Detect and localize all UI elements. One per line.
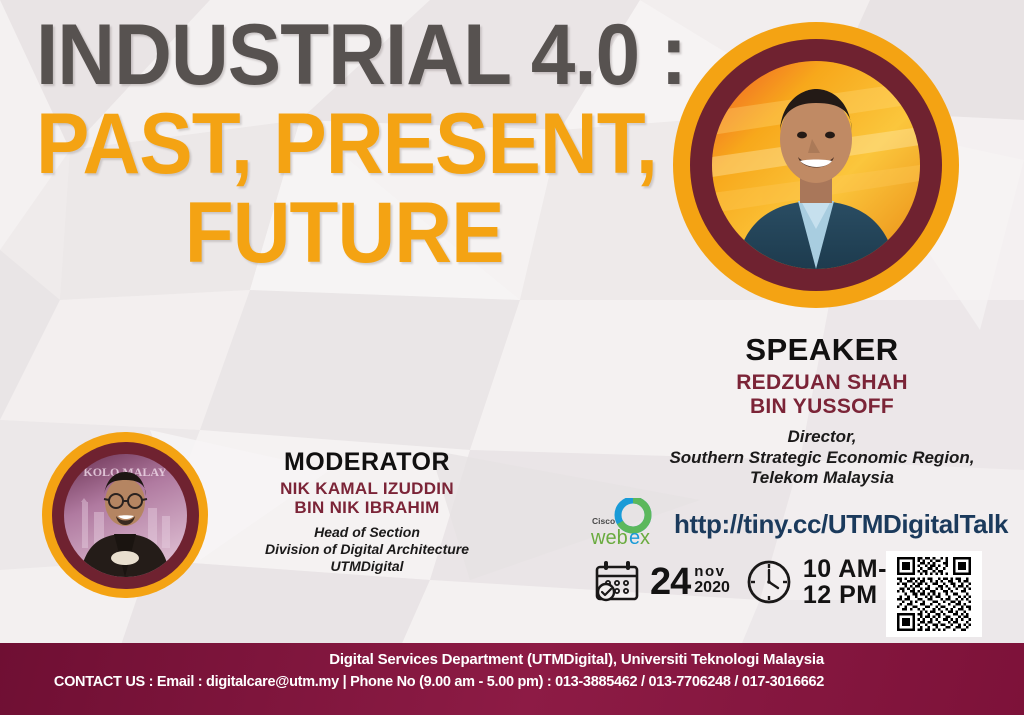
svg-text:Cisco: Cisco [592, 516, 615, 526]
qr-code-card[interactable] [886, 551, 982, 637]
moderator-avatar-inner-ring: KOLO MALAY [52, 442, 199, 589]
calendar-icon [592, 557, 642, 607]
moderator-name-line-1: NIK KAMAL IZUDDIN [212, 479, 522, 498]
speaker-info-block: SPEAKER REDZUAN SHAH BIN YUSSOFF Directo… [620, 332, 1024, 489]
meeting-link-row: Cisco web e x http://tiny.cc/UTMDigitalT… [590, 498, 1008, 550]
speaker-avatar-inner-ring [690, 39, 942, 291]
svg-text:e: e [629, 527, 640, 549]
speaker-photo-clip [712, 61, 920, 269]
speaker-job-title: Director, Southern Strategic Economic Re… [620, 427, 1024, 488]
moderator-info-block: MODERATOR NIK KAMAL IZUDDIN BIN NIK IBRA… [212, 448, 522, 575]
speaker-job-line-3: Telekom Malaysia [620, 468, 1024, 488]
moderator-name-line-2: BIN NIK IBRAHIM [212, 498, 522, 517]
moderator-role-label: MODERATOR [212, 448, 522, 477]
title-line-3: FUTURE [36, 190, 650, 278]
event-month: nov [694, 564, 730, 580]
moderator-job-line-2: Division of Digital Architecture [212, 541, 522, 558]
speaker-portrait-illustration [712, 61, 920, 269]
speaker-name-line-1: REDZUAN SHAH [620, 371, 1024, 395]
event-date: 24 nov 2020 [650, 563, 730, 601]
speaker-avatar [673, 22, 959, 308]
moderator-portrait-illustration: KOLO MALAY [64, 454, 187, 577]
event-time-line-1: 10 AM- [803, 556, 887, 582]
footer-contact-info: CONTACT US : Email : digitalcare@utm.my … [0, 672, 824, 694]
moderator-job-line-3: UTMDigital [212, 558, 522, 575]
cisco-webex-logo-icon: Cisco web e x [590, 498, 662, 550]
event-datetime-row: 24 nov 2020 10 AM- 12 PM [592, 556, 887, 609]
event-day: 24 [650, 563, 690, 601]
speaker-name: REDZUAN SHAH BIN YUSSOFF [620, 371, 1024, 418]
footer-text-block: Digital Services Department (UTMDigital)… [0, 649, 840, 693]
meeting-url-link[interactable]: http://tiny.cc/UTMDigitalTalk [674, 509, 1008, 540]
speaker-name-line-2: BIN YUSSOFF [620, 395, 1024, 419]
footer-bar: Digital Services Department (UTMDigital)… [0, 643, 1024, 715]
moderator-photo-clip: KOLO MALAY [64, 454, 187, 577]
title-line-2: PAST, PRESENT, [36, 101, 650, 189]
event-time: 10 AM- 12 PM [803, 556, 887, 609]
qr-code-icon[interactable] [897, 557, 971, 631]
moderator-avatar: KOLO MALAY [42, 432, 208, 598]
event-month-year: nov 2020 [694, 564, 730, 597]
svg-text:x: x [640, 527, 650, 549]
event-time-line-2: 12 PM [803, 582, 887, 608]
event-year: 2020 [694, 580, 730, 597]
speaker-job-line-1: Director, [620, 427, 1024, 447]
moderator-job-title: Head of Section Division of Digital Arch… [212, 524, 522, 574]
poster-title: INDUSTRIAL 4.0 : PAST, PRESENT, FUTURE [36, 14, 696, 278]
poster-root: INDUSTRIAL 4.0 : PAST, PRESENT, FUTURE [0, 0, 1024, 715]
moderator-job-line-1: Head of Section [212, 524, 522, 541]
svg-text:web: web [590, 527, 628, 549]
footer-department: Digital Services Department (UTMDigital)… [0, 649, 824, 672]
clock-icon [744, 557, 794, 607]
title-line-1: INDUSTRIAL 4.0 : [36, 14, 650, 97]
moderator-name: NIK KAMAL IZUDDIN BIN NIK IBRAHIM [212, 479, 522, 517]
speaker-job-line-2: Southern Strategic Economic Region, [620, 448, 1024, 468]
speaker-role-label: SPEAKER [620, 332, 1024, 368]
